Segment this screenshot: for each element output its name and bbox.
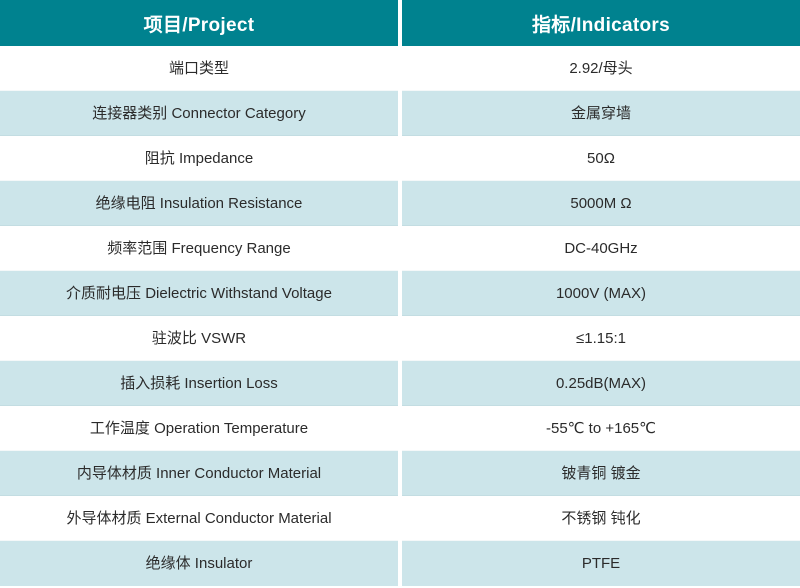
table-row: 阻抗 Impedance50Ω: [0, 136, 800, 181]
table-row: 工作温度 Operation Temperature-55℃ to +165℃: [0, 406, 800, 451]
cell-indicator: 铍青铜 镀金: [400, 451, 800, 496]
table-body: 端口类型2.92/母头连接器类别 Connector Category金属穿墙阻…: [0, 46, 800, 586]
cell-project: 绝缘体 Insulator: [0, 541, 400, 586]
table-row: 外导体材质 External Conductor Material不锈钢 钝化: [0, 496, 800, 541]
table-header: 项目/Project 指标/Indicators: [0, 0, 800, 46]
cell-project: 频率范围 Frequency Range: [0, 226, 400, 271]
cell-indicator: PTFE: [400, 541, 800, 586]
cell-indicator: 金属穿墙: [400, 91, 800, 136]
cell-indicator: -55℃ to +165℃: [400, 406, 800, 451]
cell-project: 介质耐电压 Dielectric Withstand Voltage: [0, 271, 400, 316]
cell-indicator: ≤1.15:1: [400, 316, 800, 361]
cell-indicator: DC-40GHz: [400, 226, 800, 271]
cell-project: 外导体材质 External Conductor Material: [0, 496, 400, 541]
cell-indicator: 1000V (MAX): [400, 271, 800, 316]
cell-project: 插入损耗 Insertion Loss: [0, 361, 400, 406]
cell-project: 驻波比 VSWR: [0, 316, 400, 361]
cell-indicator: 不锈钢 钝化: [400, 496, 800, 541]
cell-indicator: 5000M Ω: [400, 181, 800, 226]
cell-indicator: 0.25dB(MAX): [400, 361, 800, 406]
specifications-table: 项目/Project 指标/Indicators 端口类型2.92/母头连接器类…: [0, 0, 800, 586]
table-header-row: 项目/Project 指标/Indicators: [0, 0, 800, 46]
table-row: 连接器类别 Connector Category金属穿墙: [0, 91, 800, 136]
column-header-indicator: 指标/Indicators: [400, 0, 800, 46]
cell-project: 端口类型: [0, 46, 400, 91]
cell-project: 绝缘电阻 Insulation Resistance: [0, 181, 400, 226]
table-row: 端口类型2.92/母头: [0, 46, 800, 91]
cell-project: 内导体材质 Inner Conductor Material: [0, 451, 400, 496]
cell-indicator: 2.92/母头: [400, 46, 800, 91]
cell-project: 连接器类别 Connector Category: [0, 91, 400, 136]
table-row: 内导体材质 Inner Conductor Material铍青铜 镀金: [0, 451, 800, 496]
table-row: 介质耐电压 Dielectric Withstand Voltage1000V …: [0, 271, 800, 316]
cell-project: 阻抗 Impedance: [0, 136, 400, 181]
table-row: 绝缘电阻 Insulation Resistance5000M Ω: [0, 181, 800, 226]
table-row: 插入损耗 Insertion Loss0.25dB(MAX): [0, 361, 800, 406]
cell-project: 工作温度 Operation Temperature: [0, 406, 400, 451]
table-row: 绝缘体 InsulatorPTFE: [0, 541, 800, 586]
table-row: 驻波比 VSWR≤1.15:1: [0, 316, 800, 361]
cell-indicator: 50Ω: [400, 136, 800, 181]
table-row: 频率范围 Frequency RangeDC-40GHz: [0, 226, 800, 271]
column-header-project: 项目/Project: [0, 0, 400, 46]
